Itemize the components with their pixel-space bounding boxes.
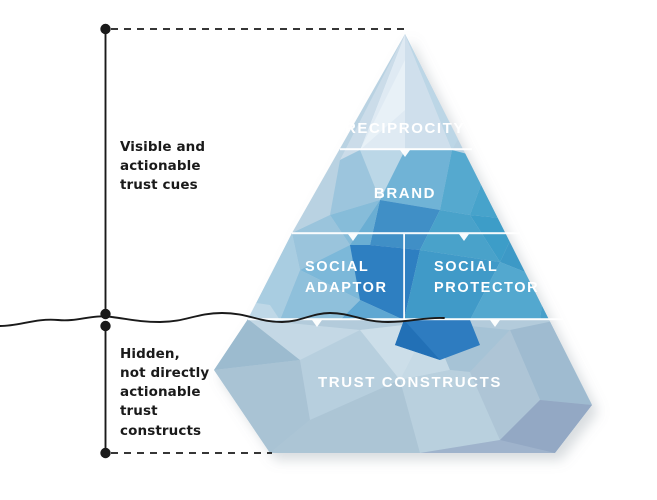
bracket-dot-waterline-upper	[100, 309, 110, 319]
bracket-dot-bottom	[100, 448, 110, 458]
diagram-canvas: RECIPROCITY BRAND SOCIAL ADAPTOR SOCIAL …	[0, 0, 657, 500]
social-adaptor-line2: ADAPTOR	[305, 280, 388, 296]
iceberg-diagram: RECIPROCITY BRAND SOCIAL ADAPTOR SOCIAL …	[0, 0, 657, 500]
social-protector-line1: SOCIAL	[434, 259, 498, 275]
section-label-brand: BRAND	[374, 185, 436, 202]
section-label-trust-constructs: TRUST CONSTRUCTS	[318, 374, 502, 391]
bracket-label-below-water: Hidden, not directly actionable trust co…	[120, 345, 209, 441]
social-adaptor-line1: SOCIAL	[305, 259, 369, 275]
section-label-reciprocity: RECIPROCITY	[345, 120, 465, 137]
bracket-dot-waterline-lower	[100, 321, 110, 331]
facet	[540, 280, 563, 320]
social-protector-line2: PROTECTOR	[434, 280, 539, 296]
divider-social-vertical	[403, 234, 405, 319]
bracket-label-above-water: Visible and actionable trust cues	[120, 138, 205, 195]
bracket-dot-top	[100, 24, 110, 34]
